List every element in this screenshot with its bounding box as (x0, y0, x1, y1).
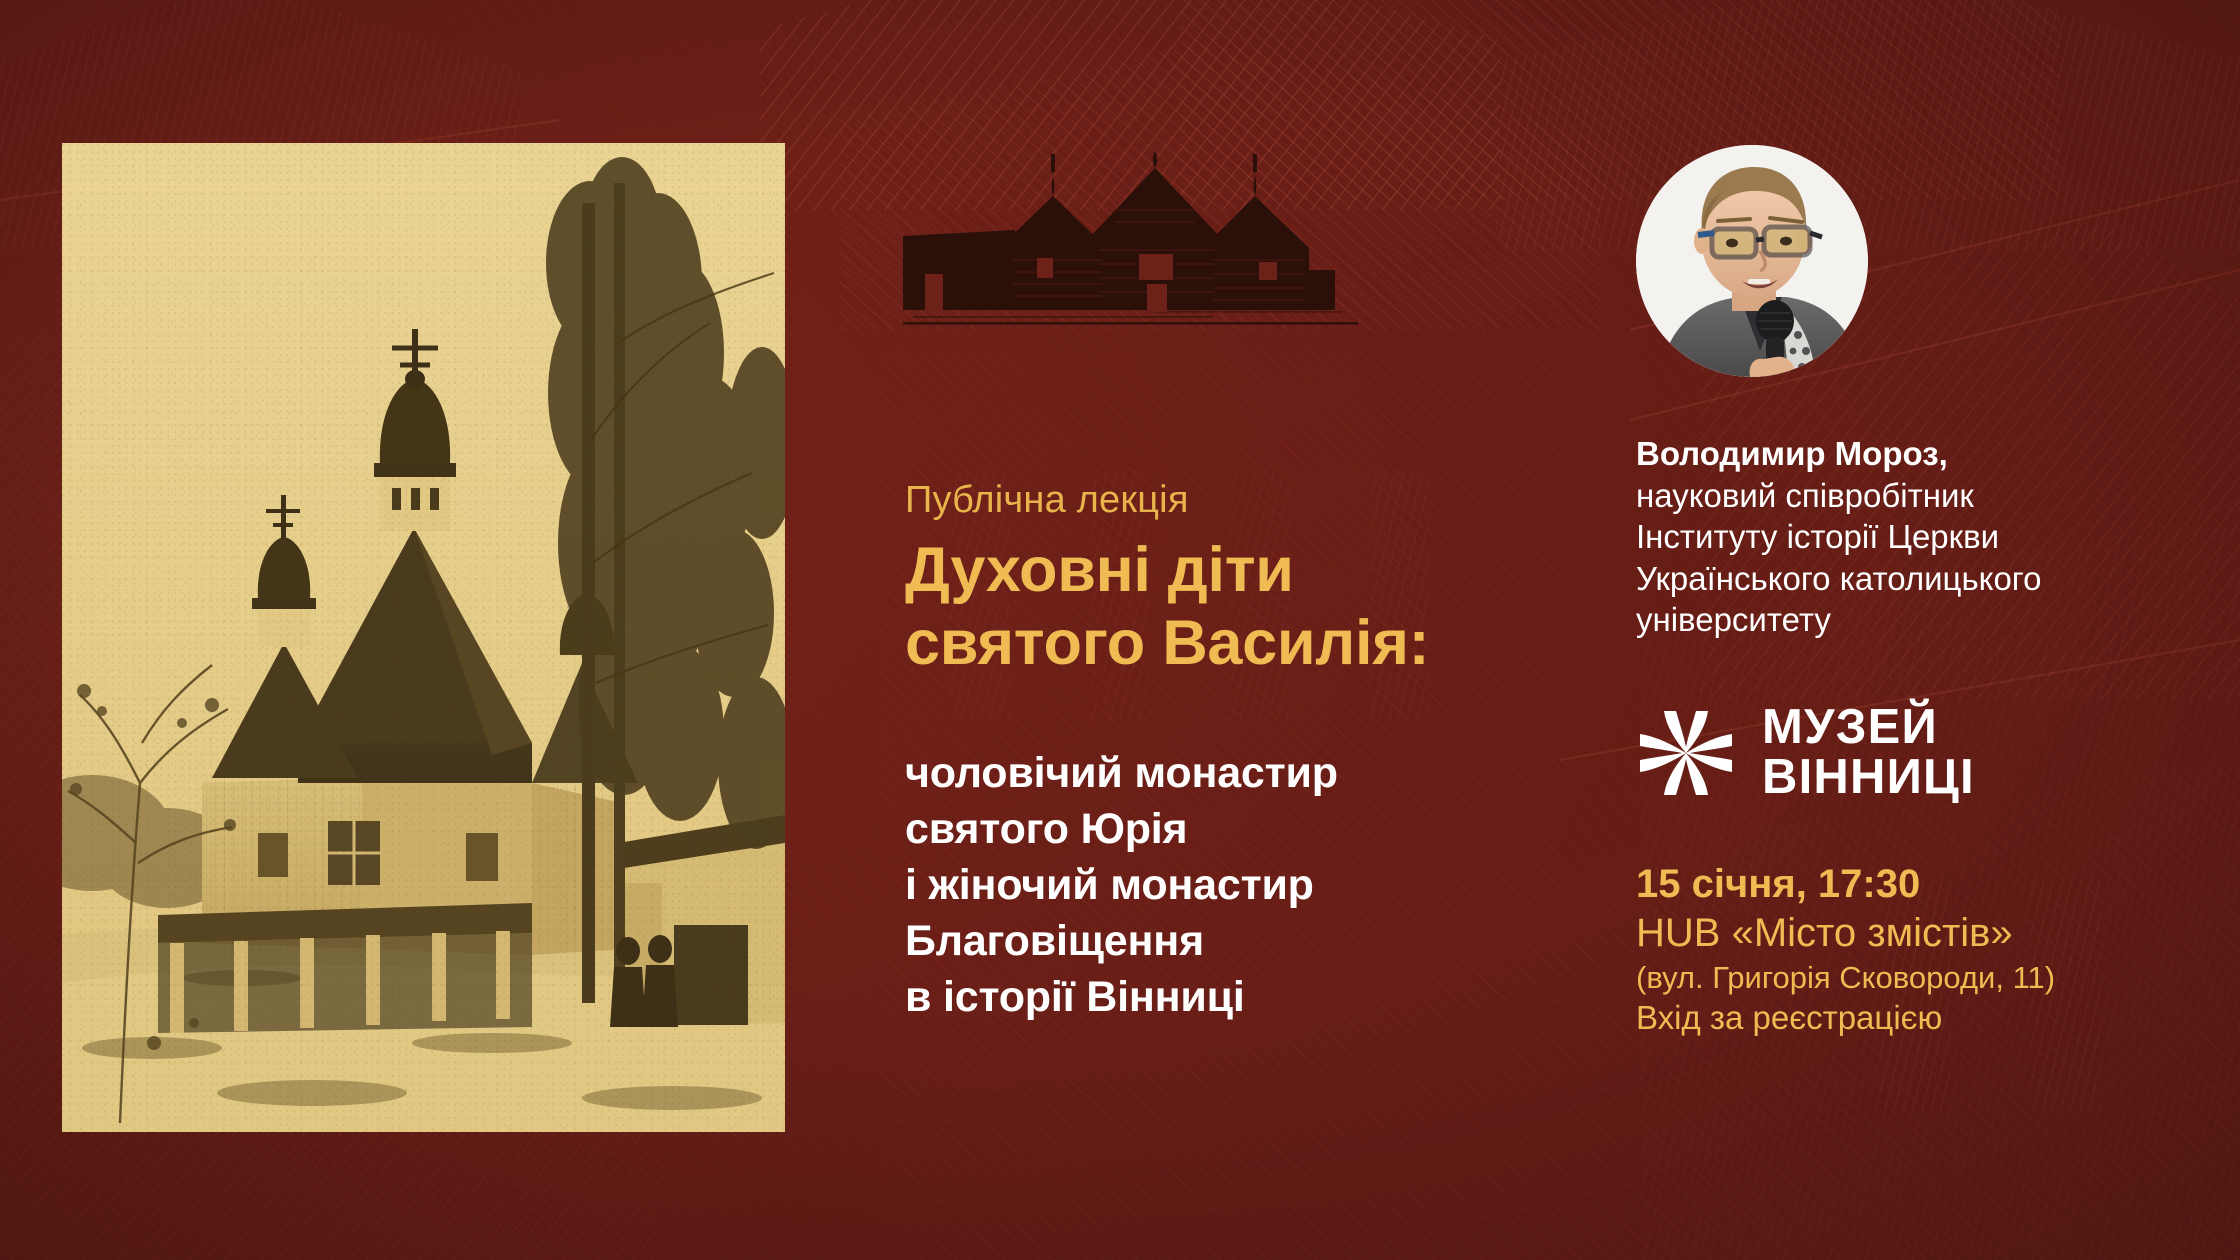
museum-logo: МУЗЕЙ ВІННИЦІ (1636, 703, 2196, 803)
lecture-title-line-2: святого Василія: (905, 607, 1545, 680)
speaker-role-line-3: Українського католицького (1636, 560, 2041, 597)
church-line-illustration (903, 150, 1358, 335)
event-details: 15 січня, 17:30 HUB «Місто змістів» (вул… (1636, 861, 2196, 1038)
speaker-role-line-1: науковий співробітник (1636, 477, 1974, 514)
lecture-subtitle-line-5: в історії Вінниці (905, 970, 1545, 1026)
event-entry-note: Вхід за реєстрацією (1636, 999, 2196, 1038)
lecture-eyebrow-label: Публічна лекція (905, 480, 1545, 522)
lecture-subtitle-line-1: чоловічий монастир (905, 746, 1545, 802)
lecture-subtitle-line-4: Благовіщення (905, 914, 1545, 970)
event-address: (вул. Григорія Сковороди, 11) (1636, 960, 2196, 997)
lecture-subtitle: чоловічий монастир святого Юрія і жіночи… (905, 746, 1545, 1025)
museum-logo-line-1: МУЗЕЙ (1762, 703, 1975, 753)
historical-church-photo (62, 143, 785, 1132)
speaker-role-line-2: Інституту історії Церкви (1636, 518, 1999, 555)
speaker-role-line-4: університету (1636, 601, 1831, 638)
speaker-avatar (1636, 145, 1868, 377)
centre-column: Публічна лекція Духовні діти святого Вас… (905, 150, 1545, 1025)
event-venue: HUB «Місто змістів» (1636, 910, 2196, 957)
lecture-subtitle-line-3: і жіночий монастир (905, 858, 1545, 914)
museum-logo-text: МУЗЕЙ ВІННИЦІ (1762, 703, 1975, 803)
event-poster: Публічна лекція Духовні діти святого Вас… (0, 0, 2240, 1260)
lecture-subtitle-line-2: святого Юрія (905, 802, 1545, 858)
museum-logo-line-2: ВІННИЦІ (1762, 753, 1975, 803)
event-date-time: 15 січня, 17:30 (1636, 861, 2196, 908)
speaker-name: Володимир Мороз, (1636, 433, 2196, 475)
lecture-title: Духовні діти святого Василія: (905, 534, 1545, 680)
museum-star-icon (1636, 703, 1736, 803)
right-column: Володимир Мороз, науковий співробітник І… (1636, 145, 2196, 1038)
lecture-title-line-1: Духовні діти (905, 534, 1545, 607)
speaker-info: Володимир Мороз, науковий співробітник І… (1636, 433, 2196, 641)
